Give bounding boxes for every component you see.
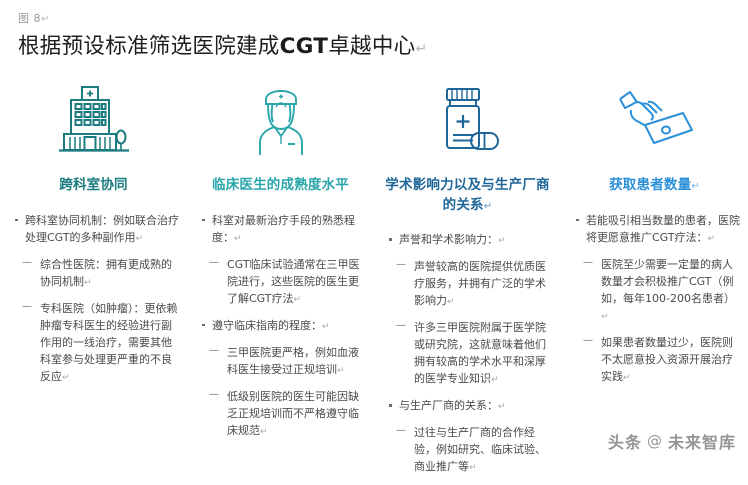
sub-bullet-item: 声誉较高的医院提供优质医疗服务，并拥有广泛的学术影响力↵ [388, 258, 553, 310]
watermark-account: 未来智库 [668, 429, 736, 453]
bullet-text: 遵守临床指南的程度： [212, 319, 322, 332]
criteria-columns: 跨科室协同 跨科室协同机制：例如联合治疗处理CGT的多种副作用↵ 综合性医院：拥… [0, 80, 748, 485]
hospital-building-icon [57, 82, 131, 160]
page-title: 根据预设标准筛选医院建成CGT卓越中心↵ [18, 29, 427, 60]
figure-label-text: 图 8 [18, 12, 41, 25]
pilcrow-mark: ↵ [469, 463, 477, 473]
watermark-brand: 头条 [608, 429, 642, 453]
sub-bullet-item: 许多三甲医院附属于医学院或研究院，这就意味着他们拥有较高的学术水平和深厚的医学专… [388, 319, 553, 388]
pilcrow-mark: ↵ [234, 234, 242, 244]
pilcrow-mark: ↵ [491, 375, 499, 385]
pilcrow-mark: ↵ [294, 295, 302, 305]
sub-bullet-item: 低级别医院的医生可能因缺乏正规培训而不严格遵守临床规范↵ [201, 388, 366, 440]
page-title-part2: 卓越中心 [328, 34, 415, 59]
pilcrow-mark: ↵ [337, 366, 345, 376]
sub-bullet-item: 如果患者数量过少，医院则不太愿意投入资源开展治疗实践↵ [575, 334, 740, 386]
sub-bullet-item: 过往与生产厂商的合作经验，例如研究、临床试验、商业推广等↵ [388, 424, 553, 476]
column-title: 学术影响力以及与生产厂商的关系↵ [380, 176, 555, 215]
watermark-at-symbol: @ [647, 432, 663, 450]
column-body: 跨科室协同机制：例如联合治疗处理CGT的多种副作用↵ 综合性医院：拥有更成熟的协… [6, 212, 181, 395]
pilcrow-mark: ↵ [415, 41, 427, 57]
column-title-text: 临床医生的成熟度水平 [212, 177, 349, 193]
pilcrow-mark: ↵ [484, 201, 493, 212]
pilcrow-mark: ↵ [62, 373, 70, 383]
bullet-text: 与生产厂商的关系： [399, 399, 498, 412]
figure-label: 图 8↵ [18, 10, 50, 26]
criteria-column-1: 跨科室协同 跨科室协同机制：例如联合治疗处理CGT的多种副作用↵ 综合性医院：拥… [0, 80, 187, 395]
bullet-item: 跨科室协同机制：例如联合治疗处理CGT的多种副作用↵ [14, 212, 179, 247]
bullet-item: 声誉和学术影响力：↵ [388, 231, 553, 249]
sub-bullet-item: 三甲医院更严格，例如血液科医生接受过正规培训↵ [201, 344, 366, 379]
pilcrow-mark: ↵ [41, 14, 50, 25]
bullet-item: 若能吸引相当数量的患者，医院将更愿意推广CGT疗法：↵ [575, 212, 740, 247]
bullet-text: 综合性医院：拥有更成熟的协同机制 [40, 258, 172, 288]
pilcrow-mark: ↵ [623, 373, 631, 383]
column-title-text: 学术影响力以及与生产厂商的关系 [385, 177, 549, 213]
sub-bullet-item: CGT临床试验通常在三甲医院进行，这些医院的医生更了解CGT疗法↵ [201, 256, 366, 308]
pilcrow-mark: ↵ [498, 236, 506, 246]
column-title-text: 跨科室协同 [59, 177, 128, 193]
pilcrow-mark: ↵ [322, 322, 330, 332]
pilcrow-mark: ↵ [136, 234, 144, 244]
pilcrow-mark: ↵ [447, 297, 455, 307]
slide-page: 图 8↵ 根据预设标准筛选医院建成CGT卓越中心↵ [0, 0, 748, 461]
pilcrow-mark: ↵ [601, 312, 609, 322]
column-title: 跨科室协同 [59, 176, 128, 196]
pilcrow-mark: ↵ [260, 427, 268, 437]
column-title-text: 获取患者数量 [609, 177, 691, 193]
bullet-text: 声誉较高的医院提供优质医疗服务，并拥有广泛的学术影响力 [414, 260, 546, 307]
pilcrow-mark: ↵ [498, 402, 506, 412]
medicine-bottle-pill-icon [431, 82, 505, 160]
bullet-text: 如果患者数量过少，医院则不太愿意投入资源开展治疗实践 [601, 336, 733, 383]
sub-bullet-item: 综合性医院：拥有更成熟的协同机制↵ [14, 256, 179, 291]
criteria-column-2: 临床医生的成熟度水平 科室对最新治疗手段的熟悉程度：↵ CGT临床试验通常在三甲… [187, 80, 374, 449]
hand-holding-money-icon [615, 82, 695, 160]
watermark: 头条 @ 未来智库 [608, 429, 736, 453]
nurse-clinician-icon [244, 82, 318, 160]
header-divider [0, 72, 748, 73]
bullet-text: 若能吸引相当数量的患者，医院将更愿意推广CGT疗法： [586, 214, 740, 244]
column-title: 获取患者数量↵ [609, 176, 700, 196]
page-title-part1: 根据预设标准筛选医院建成 [18, 34, 280, 59]
pilcrow-mark: ↵ [691, 181, 700, 192]
bullet-text: 声誉和学术影响力： [399, 233, 498, 246]
bullet-text: 许多三甲医院附属于医学院或研究院，这就意味着他们拥有较高的学术水平和深厚的医学专… [414, 321, 546, 385]
bullet-item: 遵守临床指南的程度：↵ [201, 317, 366, 335]
bullet-item: 与生产厂商的关系：↵ [388, 397, 553, 415]
bullet-text: 过往与生产厂商的合作经验，例如研究、临床试验、商业推广等 [414, 426, 546, 473]
sub-bullet-item: 专科医院（如肿瘤）：更依赖肿瘤专科医生的经验进行副作用的一线治疗，需要其他科室参… [14, 300, 179, 386]
bullet-text: 跨科室协同机制：例如联合治疗处理CGT的多种副作用 [25, 214, 179, 244]
page-title-bold: CGT [280, 34, 329, 59]
bullet-text: 专科医院（如肿瘤）：更依赖肿瘤专科医生的经验进行副作用的一线治疗，需要其他科室参… [40, 302, 178, 383]
bullet-text: 低级别医院的医生可能因缺乏正规培训而不严格遵守临床规范 [227, 390, 359, 437]
column-body: 科室对最新治疗手段的熟悉程度：↵ CGT临床试验通常在三甲医院进行，这些医院的医… [193, 212, 368, 449]
pilcrow-mark: ↵ [708, 234, 716, 244]
sub-bullet-item: 医院至少需要一定量的病人数量才会积极推广CGT（例如，每年100-200名患者）… [575, 256, 740, 325]
pilcrow-mark: ↵ [84, 278, 92, 288]
bullet-item: 科室对最新治疗手段的熟悉程度：↵ [201, 212, 366, 247]
column-body: 若能吸引相当数量的患者，医院将更愿意推广CGT疗法：↵ 医院至少需要一定量的病人… [567, 212, 742, 395]
criteria-column-4: 获取患者数量↵ 若能吸引相当数量的患者，医院将更愿意推广CGT疗法：↵ 医院至少… [561, 80, 748, 395]
criteria-column-3: 学术影响力以及与生产厂商的关系↵ 声誉和学术影响力：↵ 声誉较高的医院提供优质医… [374, 80, 561, 485]
column-body: 声誉和学术影响力：↵ 声誉较高的医院提供优质医疗服务，并拥有广泛的学术影响力↵ … [380, 231, 555, 485]
bullet-text: 医院至少需要一定量的病人数量才会积极推广CGT（例如，每年100-200名患者） [601, 258, 735, 305]
column-title: 临床医生的成熟度水平 [212, 176, 349, 196]
